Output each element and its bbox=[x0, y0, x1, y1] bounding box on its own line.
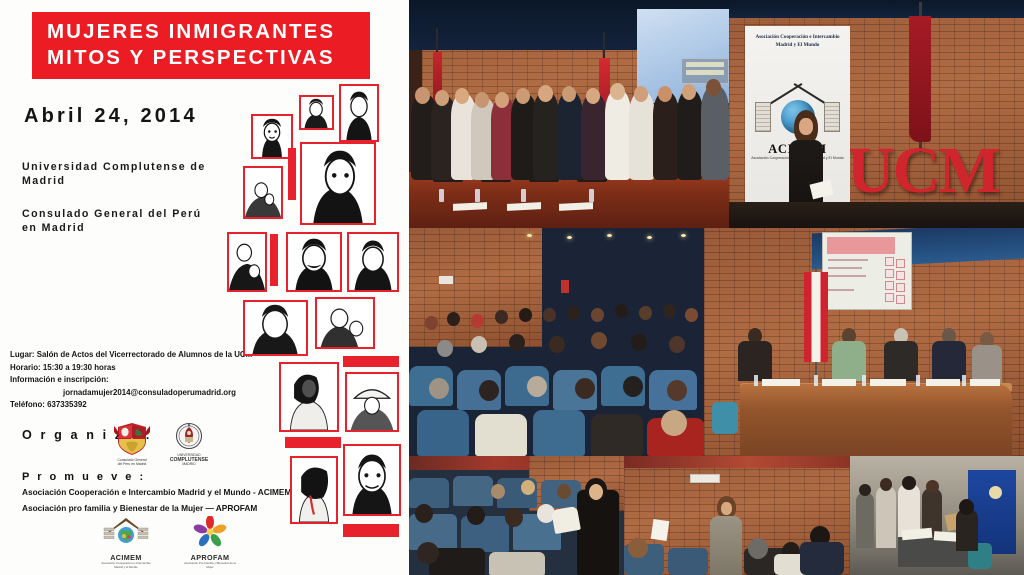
ucm-seal-icon: UNIVERSIDAD COMPLUTENSE MADRID bbox=[167, 421, 211, 465]
poster-details: Lugar: Salón de Actos del Vicerrectorado… bbox=[10, 349, 255, 412]
poster-venue: Universidad Complutense de Madrid Consul… bbox=[22, 160, 262, 235]
poster-date: Abril 24, 2014 bbox=[24, 105, 198, 128]
portrait-frame bbox=[339, 84, 379, 142]
detail-lugar: Lugar: Salón de Actos del Vicerrectorado… bbox=[10, 349, 255, 362]
organiza-logos: Consulado General del Perú en Madrid UNI… bbox=[112, 421, 211, 465]
portrait-frame bbox=[347, 232, 399, 292]
portrait-frame bbox=[290, 456, 338, 524]
collage-accent-bar bbox=[288, 148, 296, 200]
detail-informacion: Información e inscripción: bbox=[10, 374, 255, 387]
collage-accent-bar bbox=[270, 234, 278, 286]
detail-horario: Horario: 15:30 a 19:30 horas bbox=[10, 362, 255, 375]
banner-heading-line-2: Madrid y El Mundo bbox=[745, 41, 850, 49]
portrait-frame bbox=[299, 95, 334, 130]
ucm-seal-caption: UNIVERSIDAD COMPLUTENSE MADRID bbox=[170, 453, 208, 466]
poster-title-line-1: MUJERES INMIGRANTES bbox=[32, 12, 370, 45]
photo-collage: UCM Asociación Cooperación e Intercambio… bbox=[409, 0, 1024, 575]
detail-telefono: Teléfono: 637335392 bbox=[10, 399, 255, 412]
portrait-frame bbox=[279, 362, 339, 432]
portrait-frame bbox=[227, 232, 267, 292]
venue-line-3: Consulado General del Perú bbox=[22, 207, 262, 221]
peru-seal-caption: Consulado General del Perú en Madrid bbox=[117, 458, 146, 466]
photo-panel-table bbox=[704, 228, 1024, 456]
portrait-collage bbox=[243, 84, 409, 575]
venue-line-2: Madrid bbox=[22, 174, 262, 188]
peru-consulate-seal-icon: Consulado General del Perú en Madrid bbox=[112, 421, 152, 465]
venue-line-1: Universidad Complutense de bbox=[22, 160, 262, 174]
ucm-letters: UCM bbox=[847, 138, 999, 204]
photo-speaker-at-acimem-banner: UCM Asociación Cooperación e Intercambio… bbox=[729, 0, 1024, 228]
acimem-logo-sub: Asociación Cooperación e Intercambio Mad… bbox=[100, 562, 152, 569]
sponsor-logos: ACIMEM Asociación Cooperación e Intercam… bbox=[100, 516, 236, 564]
poster-title-band: MUJERES INMIGRANTES MITOS Y PERSPECTIVAS bbox=[32, 12, 370, 79]
portrait-frame bbox=[315, 297, 375, 349]
portrait-frame bbox=[343, 444, 401, 516]
aprofam-logo-sub: Asociación Pro Familia y Bienestar de la… bbox=[184, 562, 236, 569]
photo-attendee-question bbox=[624, 456, 850, 575]
acimem-logo-icon: ACIMEM Asociación Cooperación e Intercam… bbox=[100, 516, 152, 564]
portrait-frame bbox=[345, 372, 399, 432]
photo-registration-desk bbox=[850, 456, 1024, 575]
screenshot-canvas: MUJERES INMIGRANTES MITOS Y PERSPECTIVAS… bbox=[0, 0, 1024, 575]
photo-audience-auditorium bbox=[409, 228, 704, 456]
aprofam-logo-icon: APROFAM Asociación Pro Familia y Bienest… bbox=[184, 516, 236, 564]
poster-title-line-2: MITOS Y PERSPECTIVAS bbox=[32, 45, 370, 71]
detail-email: jornadamujer2014@consuladoperumadrid.org bbox=[10, 387, 255, 400]
standing-attendee bbox=[708, 496, 744, 575]
event-poster: MUJERES INMIGRANTES MITOS Y PERSPECTIVAS… bbox=[0, 0, 409, 575]
venue-line-4: en Madrid bbox=[22, 221, 262, 235]
projected-poster bbox=[822, 232, 912, 310]
portrait-frame bbox=[286, 232, 342, 292]
collage-accent-bar bbox=[343, 524, 399, 537]
portrait-frame bbox=[243, 300, 308, 356]
photo-handing-out-papers bbox=[409, 456, 624, 575]
portrait-frame bbox=[300, 142, 376, 225]
collage-accent-bar bbox=[285, 437, 341, 448]
collage-accent-bar bbox=[343, 356, 399, 367]
portrait-frame bbox=[243, 166, 283, 219]
portrait-frame bbox=[251, 114, 293, 159]
banner-heading-line-1: Asociación Cooperación e Intercambio bbox=[745, 26, 850, 41]
photo-group-photo bbox=[409, 0, 729, 228]
